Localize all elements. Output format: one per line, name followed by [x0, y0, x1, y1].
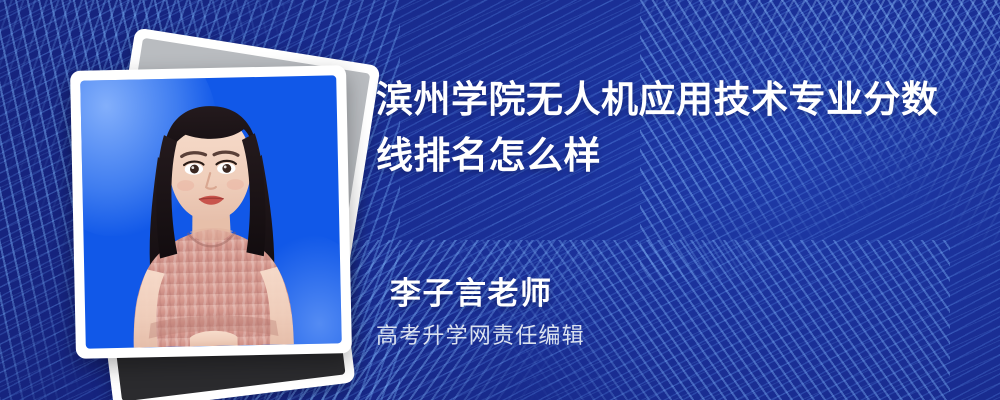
- author-portrait-photo: [80, 75, 342, 348]
- portrait-illustration: [80, 75, 342, 348]
- article-header-banner: 滨州学院无人机应用技术专业分数线排名怎么样 李子言老师 高考升学网责任编辑: [0, 0, 1000, 400]
- photo-card-front: [70, 65, 352, 359]
- photo-card-stack: [0, 0, 380, 400]
- author-role: 高考升学网责任编辑: [376, 318, 585, 350]
- page-title: 滨州学院无人机应用技术专业分数线排名怎么样: [376, 72, 962, 184]
- banner-text-block: 滨州学院无人机应用技术专业分数线排名怎么样 李子言老师 高考升学网责任编辑: [376, 0, 976, 400]
- author-name: 李子言老师: [390, 268, 553, 313]
